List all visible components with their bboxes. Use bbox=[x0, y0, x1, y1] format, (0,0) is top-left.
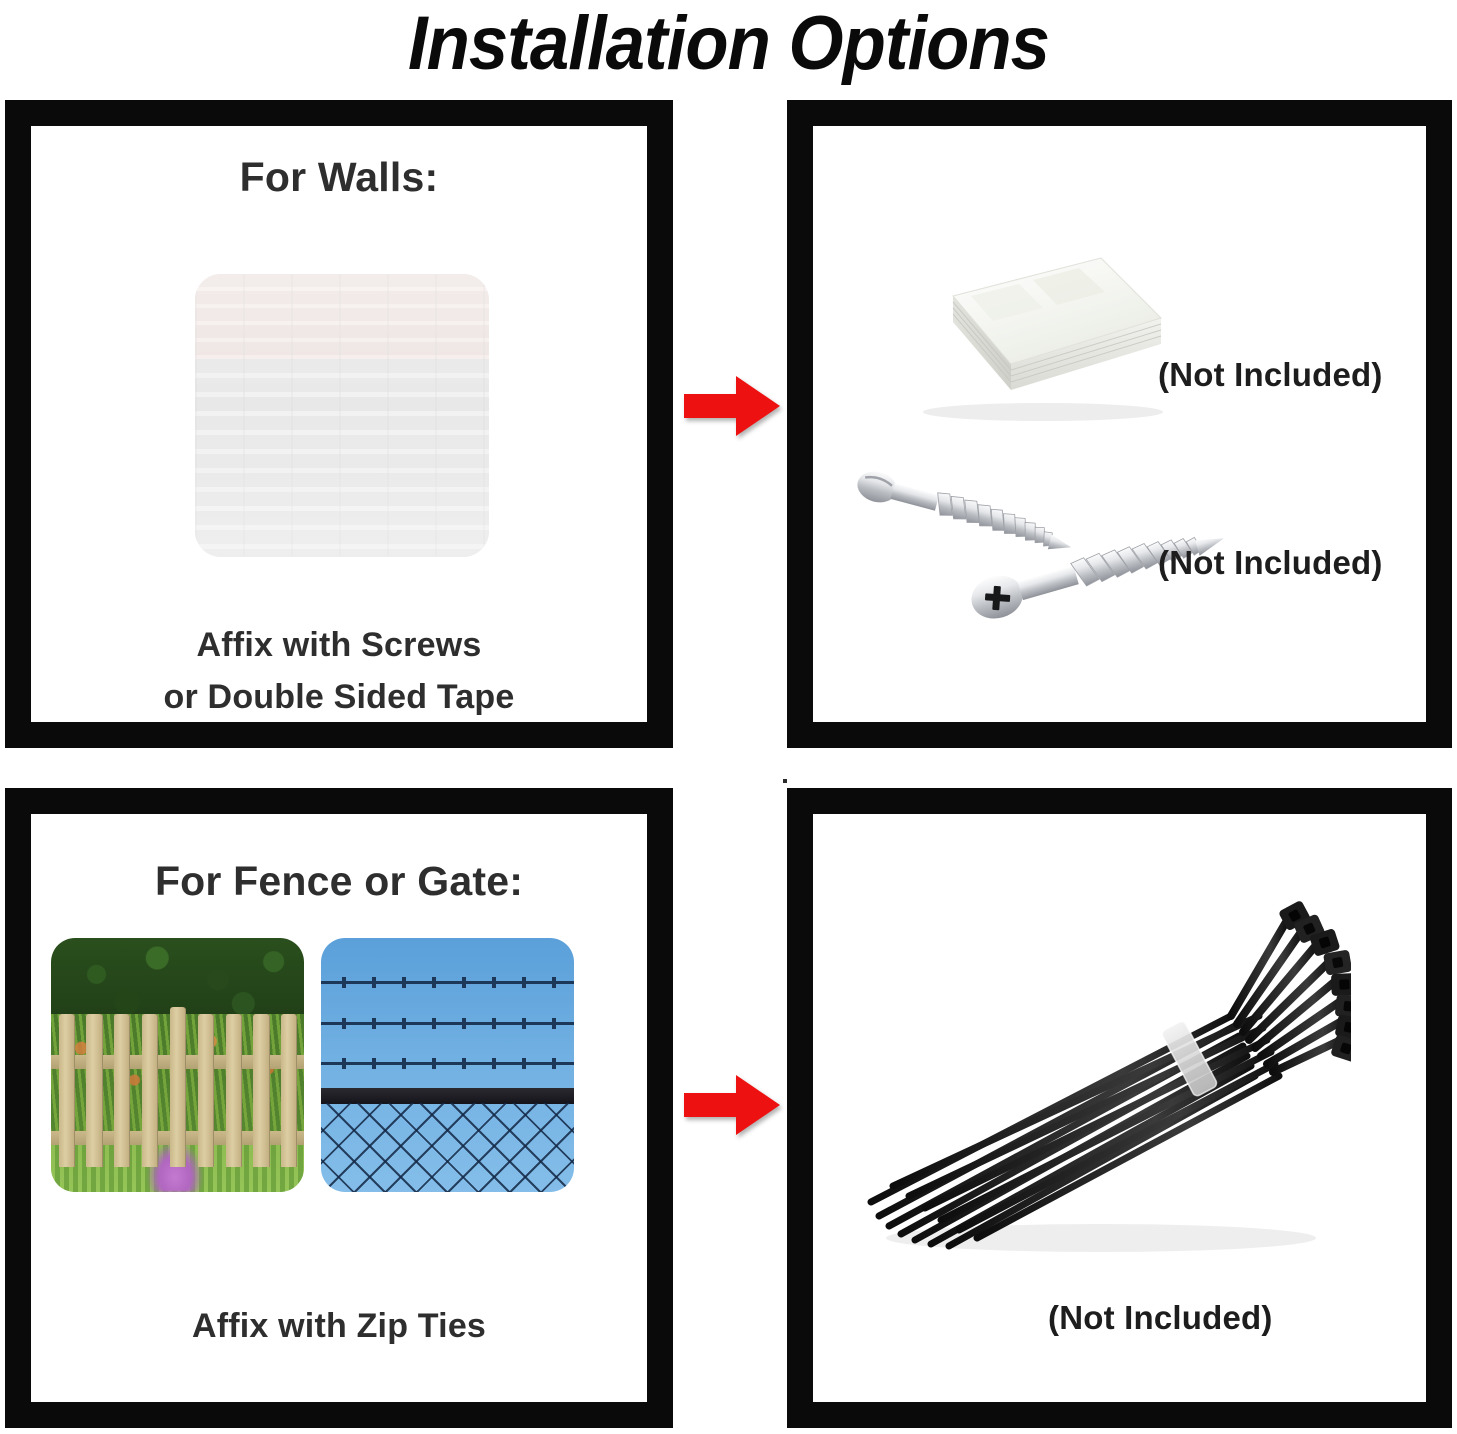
panel-for-walls: For Walls: Affix with Screws or Double S… bbox=[5, 100, 673, 748]
walls-caption-line-1: Affix with Screws bbox=[31, 626, 647, 665]
fence-caption: Affix with Zip Ties bbox=[31, 1307, 647, 1346]
fence-picket bbox=[226, 1014, 242, 1166]
fence-picket bbox=[253, 1014, 269, 1166]
fence-picket bbox=[170, 1007, 186, 1167]
ziptie-not-included-label: (Not Included) bbox=[1048, 1299, 1273, 1337]
wooden-picket-fence-photo bbox=[51, 938, 304, 1192]
barbed-wire-strand bbox=[321, 981, 574, 984]
panel-zip-ties: (Not Included) bbox=[787, 788, 1452, 1428]
tape-not-included-label: (Not Included) bbox=[1158, 356, 1383, 394]
fence-picket bbox=[142, 1014, 158, 1166]
fence-heading: For Fence or Gate: bbox=[31, 858, 647, 905]
barbed-wire-strand bbox=[321, 1062, 574, 1065]
brick-highlight-overlay bbox=[195, 274, 489, 557]
fence-picket bbox=[281, 1014, 297, 1166]
page-title: Installation Options bbox=[51, 0, 1406, 90]
chain-link-mesh bbox=[321, 1103, 574, 1192]
fence-picket bbox=[59, 1014, 75, 1166]
barbed-wire-strand bbox=[321, 1022, 574, 1025]
walls-caption-line-2: or Double Sided Tape bbox=[31, 678, 647, 717]
image-artifact-speck bbox=[783, 779, 787, 783]
white-brick-wall-photo bbox=[195, 274, 489, 557]
fence-picket bbox=[114, 1014, 130, 1166]
black-zip-tie-bundle bbox=[831, 866, 1351, 1266]
panel-wall-hardware: (Not Included) bbox=[787, 100, 1452, 748]
screw-not-included-label: (Not Included) bbox=[1158, 544, 1383, 582]
chain-link-barbed-wire-fence-photo bbox=[321, 938, 574, 1192]
red-right-arrow-icon bbox=[684, 1073, 780, 1137]
fence-picket bbox=[86, 1014, 102, 1166]
fence-picket bbox=[198, 1014, 214, 1166]
walls-heading: For Walls: bbox=[31, 154, 647, 201]
red-right-arrow-icon bbox=[684, 374, 780, 438]
panel-for-fence-or-gate: For Fence or Gate: bbox=[5, 788, 673, 1428]
fence-top-rail bbox=[321, 1088, 574, 1104]
double-sided-tape-stack bbox=[893, 244, 1179, 422]
